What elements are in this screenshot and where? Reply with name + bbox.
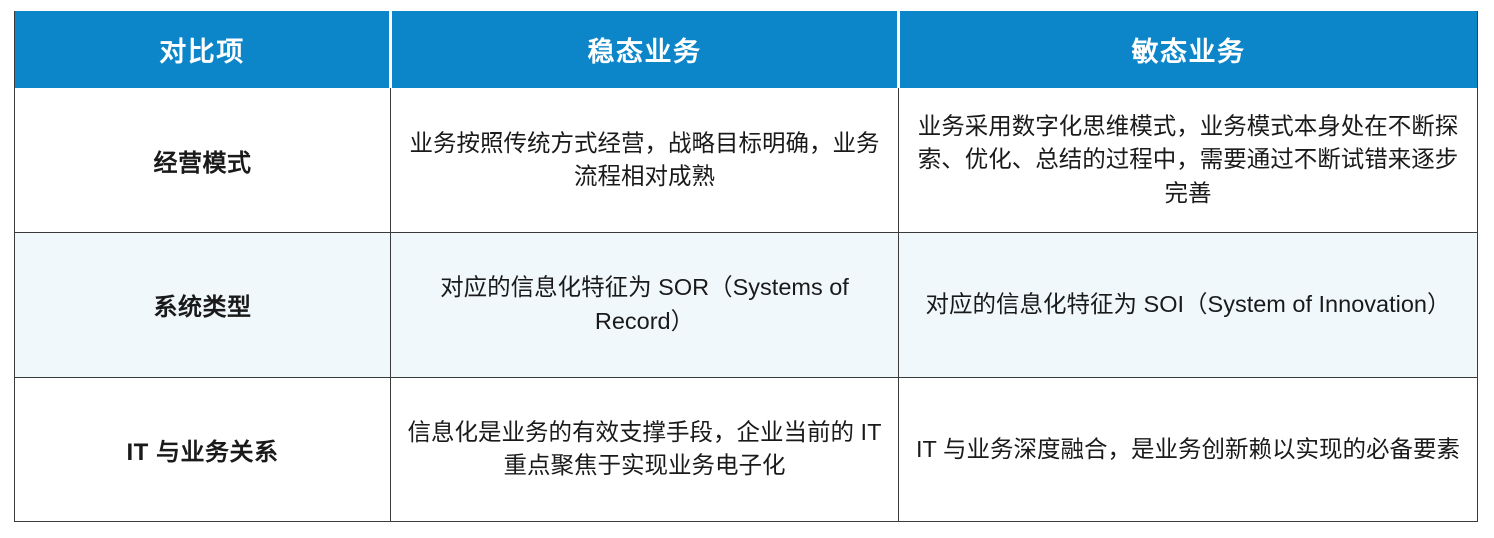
table-header: 对比项 稳态业务 敏态业务 (15, 11, 1478, 88)
cell-stable-system-type: 对应的信息化特征为 SOR（Systems of Record） (391, 233, 899, 378)
row-label-system-type: 系统类型 (15, 233, 391, 378)
cell-text: IT 与业务深度融合，是业务创新赖以实现的必备要素 (913, 433, 1463, 466)
cell-text: 业务按照传统方式经营，战略目标明确，业务流程相对成熟 (405, 127, 884, 194)
table-row: 系统类型 对应的信息化特征为 SOR（Systems of Record） 对应… (15, 233, 1478, 378)
cell-text: 业务采用数字化思维模式，业务模式本身处在不断探索、优化、总结的过程中，需要通过不… (913, 110, 1463, 210)
cell-text: 信息化是业务的有效支撑手段，企业当前的 IT 重点聚焦于实现业务电子化 (405, 416, 884, 483)
column-header-item: 对比项 (15, 11, 391, 88)
column-header-stable: 稳态业务 (391, 11, 899, 88)
table-row: 经营模式 业务按照传统方式经营，战略目标明确，业务流程相对成熟 业务采用数字化思… (15, 88, 1478, 233)
table-row: IT 与业务关系 信息化是业务的有效支撑手段，企业当前的 IT 重点聚焦于实现业… (15, 377, 1478, 522)
comparison-table-container: 对比项 稳态业务 敏态业务 经营模式 业务按照传统方式经营，战略目标明确，业务流… (14, 11, 1477, 522)
table-body: 经营模式 业务按照传统方式经营，战略目标明确，业务流程相对成熟 业务采用数字化思… (15, 88, 1478, 522)
cell-stable-it-business-relationship: 信息化是业务的有效支撑手段，企业当前的 IT 重点聚焦于实现业务电子化 (391, 377, 899, 522)
cell-agile-business-model: 业务采用数字化思维模式，业务模式本身处在不断探索、优化、总结的过程中，需要通过不… (899, 88, 1478, 233)
cell-text: 对应的信息化特征为 SOI（System of Innovation） (913, 288, 1463, 321)
cell-text: 对应的信息化特征为 SOR（Systems of Record） (405, 271, 884, 338)
row-label-business-model: 经营模式 (15, 88, 391, 233)
cell-stable-business-model: 业务按照传统方式经营，战略目标明确，业务流程相对成熟 (391, 88, 899, 233)
table-header-row: 对比项 稳态业务 敏态业务 (15, 11, 1478, 88)
row-label-it-business-relationship: IT 与业务关系 (15, 377, 391, 522)
column-header-agile: 敏态业务 (899, 11, 1478, 88)
cell-agile-it-business-relationship: IT 与业务深度融合，是业务创新赖以实现的必备要素 (899, 377, 1478, 522)
cell-agile-system-type: 对应的信息化特征为 SOI（System of Innovation） (899, 233, 1478, 378)
comparison-table: 对比项 稳态业务 敏态业务 经营模式 业务按照传统方式经营，战略目标明确，业务流… (14, 11, 1478, 522)
